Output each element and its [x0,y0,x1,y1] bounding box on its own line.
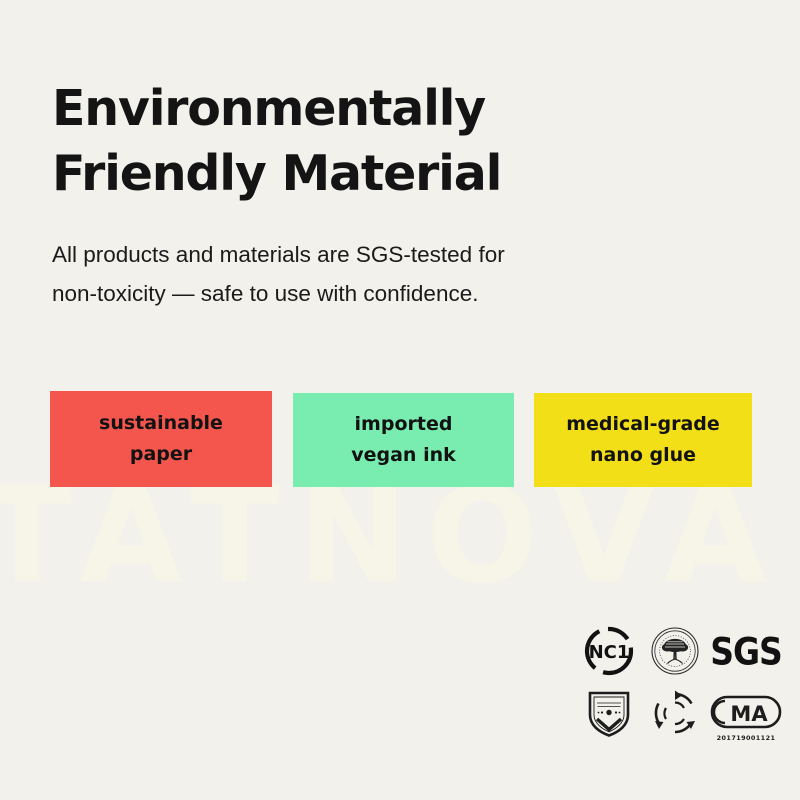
nc1-mark-label: NC1 [589,642,630,663]
cma-certificate-number: 201719001121 [706,735,785,742]
page-title-line-2: Friendly Material [52,142,692,207]
quality-shield-mark-icon [576,682,642,744]
material-chip-group: sustainable paper imported vegan ink med… [50,391,754,491]
cma-mark-icon: MA 201719001121 [708,682,784,744]
recycling-mark-icon [642,682,708,744]
certification-badge-grid: NC1 SGS [576,620,784,746]
page-subtitle-line-2: non-toxicity — safe to use with confiden… [52,275,652,314]
material-chip-imported-vegan-ink: imported vegan ink [293,393,514,487]
chip-label-line-2: nano glue [590,440,696,471]
sgs-logo-label: SGS [710,633,782,670]
chip-label-line-1: medical-grade [566,409,720,440]
chip-label-line-2: paper [130,439,192,470]
chip-label-line-2: vegan ink [351,440,456,471]
chip-label-line-1: imported [355,409,453,440]
sgs-logo-icon: SGS [708,620,784,682]
material-chip-medical-grade-nano-glue: medical-grade nano glue [534,393,752,487]
chip-label-line-1: sustainable [99,408,223,439]
page-title: Environmentally Friendly Material [52,77,692,206]
nc1-mark-icon: NC1 [576,620,642,682]
cma-mark-label: MA [730,702,768,726]
forest-stewardship-stamp-icon [642,620,708,682]
page-subtitle-line-1: All products and materials are SGS-teste… [52,236,652,275]
material-chip-sustainable-paper: sustainable paper [50,391,272,487]
page-subtitle: All products and materials are SGS-teste… [52,236,652,313]
page-title-line-1: Environmentally [52,77,692,142]
